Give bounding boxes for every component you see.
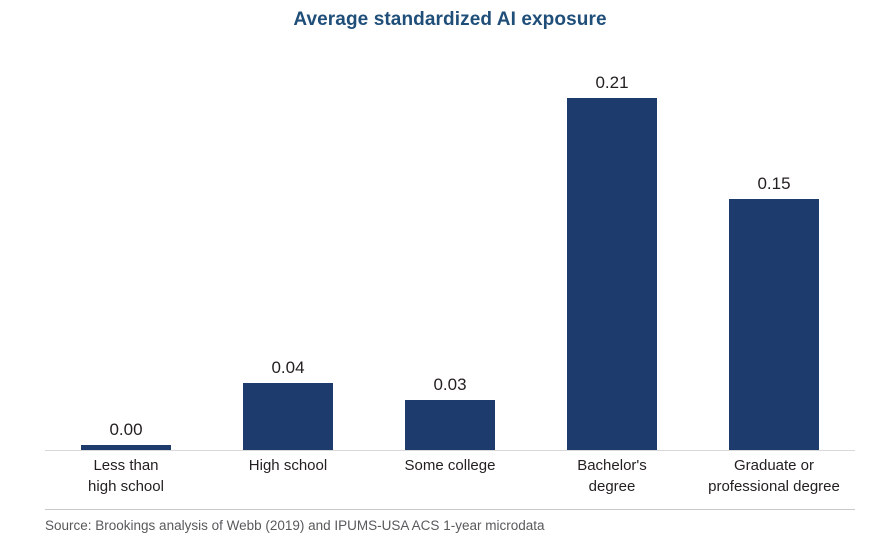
- bar-group: 0.00: [81, 44, 171, 450]
- bar-group: 0.03: [405, 44, 495, 450]
- bar-column: 0.04: [243, 359, 333, 450]
- bar-group: 0.04: [243, 44, 333, 450]
- source-note: Source: Brookings analysis of Webb (2019…: [45, 518, 865, 533]
- chart-title: Average standardized AI exposure: [45, 9, 855, 31]
- bar-value-label: 0.21: [595, 74, 628, 91]
- bar-rect[interactable]: [405, 400, 495, 450]
- x-axis-label-line: degree: [531, 476, 693, 497]
- footer-divider: [45, 509, 855, 510]
- x-axis-label-line: Some college: [369, 455, 531, 476]
- bar-value-label: 0.15: [757, 175, 790, 192]
- bar-rect[interactable]: [729, 199, 819, 450]
- x-axis-label: Less thanhigh school: [45, 455, 207, 497]
- bar-column: 0.21: [567, 74, 657, 450]
- bar-rect[interactable]: [567, 98, 657, 450]
- chart-figure: Average standardized AI exposure 0.000.0…: [0, 0, 887, 547]
- bar-value-label: 0.04: [271, 359, 304, 376]
- x-axis-label-line: professional degree: [693, 476, 855, 497]
- x-axis-label: Some college: [369, 455, 531, 476]
- bar-value-label: 0.03: [433, 376, 466, 393]
- bar-rect[interactable]: [243, 383, 333, 450]
- x-axis-label-line: Graduate or: [693, 455, 855, 476]
- x-axis-label-line: high school: [45, 476, 207, 497]
- plot-area: 0.000.040.030.210.15: [45, 44, 855, 450]
- x-axis-label-line: Less than: [45, 455, 207, 476]
- x-axis-label-line: High school: [207, 455, 369, 476]
- x-axis-label: Bachelor'sdegree: [531, 455, 693, 497]
- bar-column: 0.15: [729, 175, 819, 450]
- x-axis-line: [45, 450, 855, 451]
- bar-column: 0.00: [81, 421, 171, 450]
- x-axis-label: High school: [207, 455, 369, 476]
- x-axis-label-line: Bachelor's: [531, 455, 693, 476]
- bar-group: 0.21: [567, 44, 657, 450]
- bar-value-label: 0.00: [109, 421, 142, 438]
- bar-group: 0.15: [729, 44, 819, 450]
- x-axis-tick-labels: Less thanhigh schoolHigh schoolSome coll…: [45, 455, 855, 505]
- bar-column: 0.03: [405, 376, 495, 450]
- x-axis-label: Graduate orprofessional degree: [693, 455, 855, 497]
